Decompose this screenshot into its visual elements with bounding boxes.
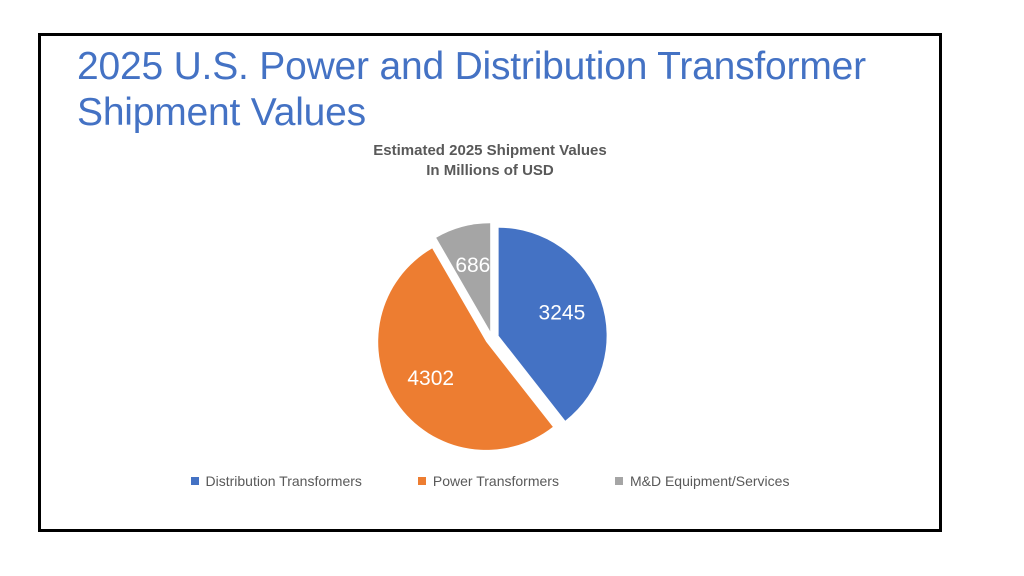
pie-chart[interactable]: Estimated 2025 Shipment Values In Millio… [41,141,939,529]
pie-slices [378,223,606,450]
legend-item-label: Power Transformers [433,473,559,489]
chart-legend: Distribution TransformersPower Transform… [41,473,939,489]
legend-item[interactable]: M&D Equipment/Services [615,473,790,489]
page-title: 2025 U.S. Power and Distribution Transfo… [77,44,917,136]
pie-graphic: 32454302686 [352,216,632,466]
legend-item-label: Distribution Transformers [206,473,362,489]
legend-item-label: M&D Equipment/Services [630,473,790,489]
chart-title-line-2: In Millions of USD [41,161,939,181]
legend-item[interactable]: Power Transformers [418,473,559,489]
slide-frame: 2025 U.S. Power and Distribution Transfo… [38,33,942,532]
pie-slice-label: 686 [455,254,490,277]
legend-swatch-icon [191,477,199,485]
pie-svg: 32454302686 [352,216,632,466]
legend-item[interactable]: Distribution Transformers [191,473,362,489]
legend-swatch-icon [615,477,623,485]
pie-slice-label: 3245 [539,301,586,324]
chart-title-line-1: Estimated 2025 Shipment Values [373,142,606,159]
pie-slice-label: 4302 [407,367,454,390]
legend-swatch-icon [418,477,426,485]
chart-title: Estimated 2025 Shipment Values In Millio… [41,141,939,181]
